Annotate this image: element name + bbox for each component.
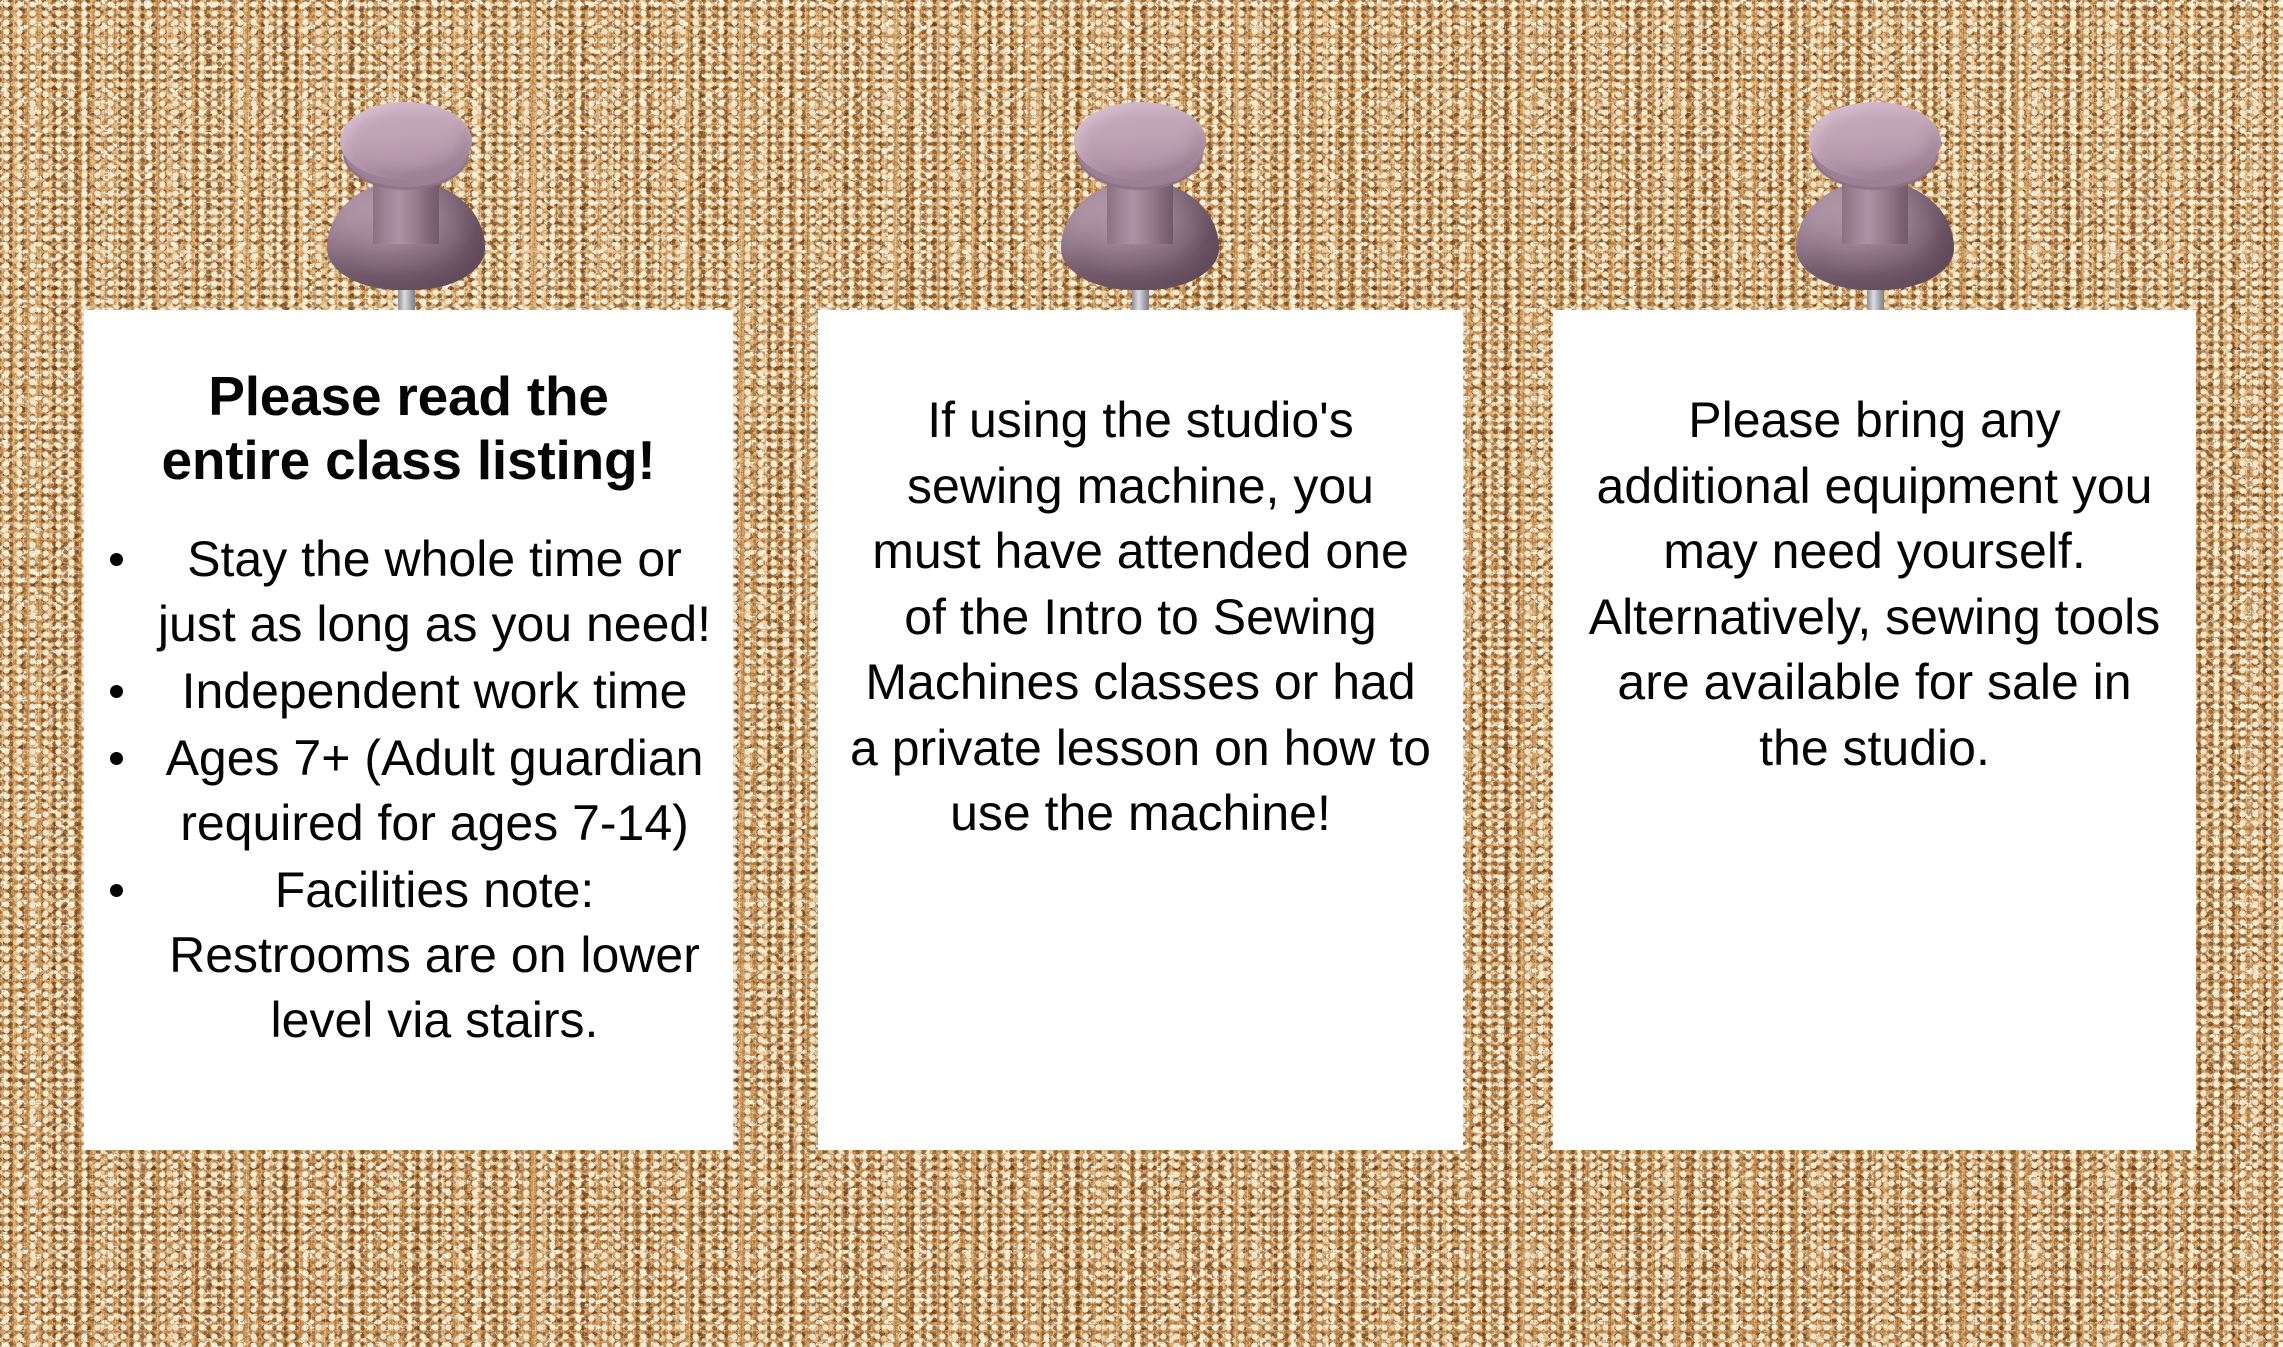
list-item-label: Stay the whole time or just as long as y… — [158, 531, 711, 652]
card-body-text: Please bring any additional equipment yo… — [1571, 388, 2178, 781]
list-item-label: Facilities note: Restrooms are on lower … — [169, 862, 700, 1048]
pushpin-head-icon — [340, 102, 472, 180]
cork-notice-board: Please read the entire class listing! St… — [0, 0, 2283, 1347]
bullet-dot-icon — [110, 884, 123, 897]
pushpin-head-icon — [1809, 102, 1941, 180]
note-card-sewing-machine-requirement[interactable]: If using the studio's sewing machine, yo… — [818, 310, 1463, 1150]
list-item: Ages 7+ (Adult guardian required for age… — [96, 726, 721, 856]
bullet-dot-icon — [110, 553, 123, 566]
card-title: Please read the entire class listing! — [96, 364, 721, 493]
note-card-class-listing[interactable]: Please read the entire class listing! St… — [84, 310, 733, 1150]
list-item-label: Independent work time — [182, 663, 688, 719]
list-item: Independent work time — [96, 659, 721, 724]
note-card-equipment[interactable]: Please bring any additional equipment yo… — [1553, 310, 2196, 1150]
list-item: Facilities note: Restrooms are on lower … — [96, 858, 721, 1053]
list-item: Stay the whole time or just as long as y… — [96, 527, 721, 657]
card-body-text: If using the studio's sewing machine, yo… — [840, 388, 1441, 847]
pushpin-head-icon — [1074, 102, 1206, 180]
card-bullet-list: Stay the whole time or just as long as y… — [96, 527, 721, 1055]
list-item-label: Ages 7+ (Adult guardian required for age… — [166, 730, 704, 851]
bullet-dot-icon — [110, 752, 123, 765]
bullet-dot-icon — [110, 685, 123, 698]
